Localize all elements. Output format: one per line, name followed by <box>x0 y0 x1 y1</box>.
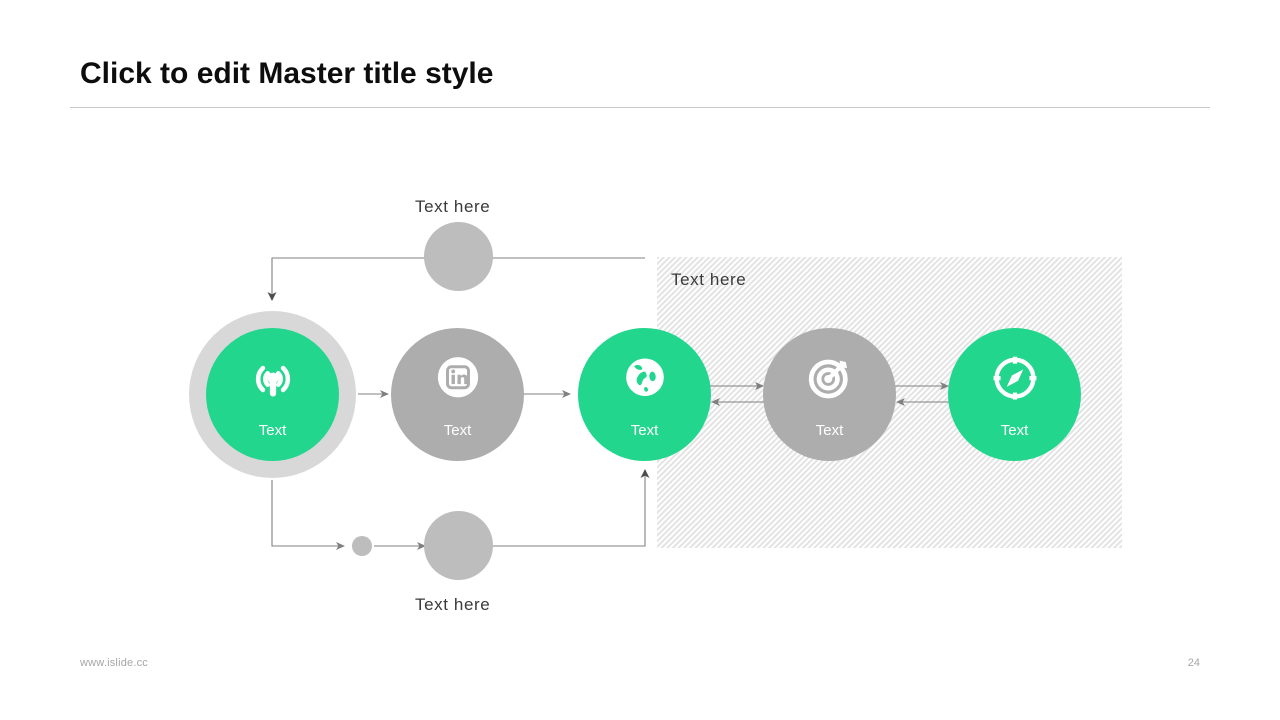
node-3[interactable]: Text <box>578 328 711 461</box>
page-number: 24 <box>1160 657 1200 669</box>
linkedin-icon <box>430 351 486 412</box>
bubble-bottom[interactable] <box>424 511 493 580</box>
node-2[interactable]: Text <box>391 328 524 461</box>
globe-icon <box>617 351 673 412</box>
process-diagram: Text here Text here Text <box>0 0 1280 720</box>
bubble-top-label: Text here <box>415 197 490 217</box>
node-1-label: Text <box>259 423 287 438</box>
node-1[interactable]: Text <box>206 328 339 461</box>
node-3-label: Text <box>631 423 659 438</box>
node-2-label: Text <box>444 423 472 438</box>
slide-canvas: Click to edit Master title style Text he… <box>0 0 1280 720</box>
bubble-top[interactable] <box>424 222 493 291</box>
node-4-label: Text <box>816 423 844 438</box>
bubble-dot[interactable] <box>352 536 372 556</box>
node-5[interactable]: Text <box>948 328 1081 461</box>
broadcast-icon <box>245 351 301 412</box>
target-icon <box>802 351 858 412</box>
bubble-bottom-label: Text here <box>415 595 490 615</box>
node-4[interactable]: Text <box>763 328 896 461</box>
compass-icon <box>987 351 1043 412</box>
footer-url[interactable]: www.islide.cc <box>80 657 148 669</box>
node-5-label: Text <box>1001 423 1029 438</box>
